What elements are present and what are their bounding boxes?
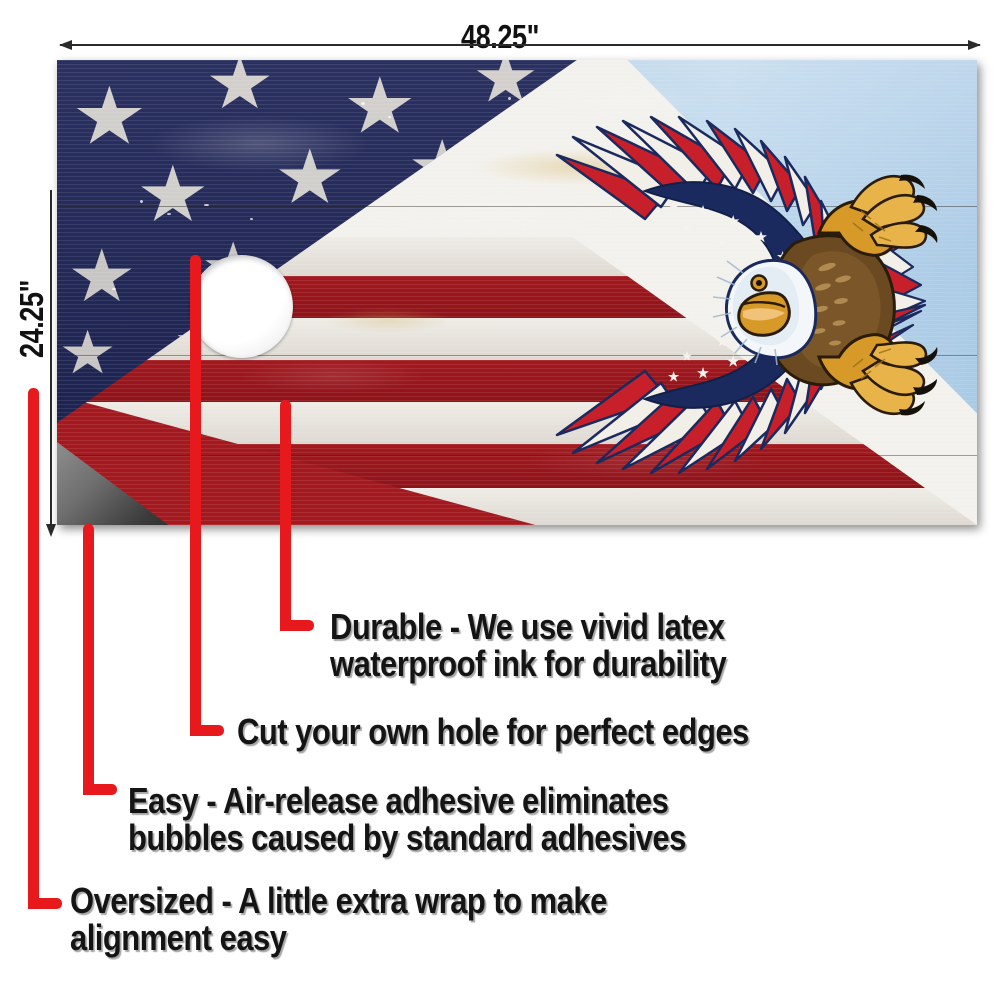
eagle-head: [713, 260, 816, 365]
callout-easy: Easy - Air-release adhesive eliminates b…: [128, 782, 833, 857]
callout-durable: Durable - We use vivid latex waterproof …: [330, 608, 932, 683]
callout-cut-hole: Cut your own hole for perfect edges: [237, 713, 908, 750]
product-annotation-diagram: 48.25" 24.25": [0, 0, 1000, 1000]
width-dimension-arrow: [60, 44, 980, 46]
height-dimension-arrow: [50, 190, 52, 526]
eagle-graphic: [527, 115, 947, 475]
cut-hole: [190, 255, 293, 358]
width-dimension-label: 48.25": [90, 18, 910, 56]
callout-oversized: Oversized - A little extra wrap to make …: [70, 882, 810, 957]
